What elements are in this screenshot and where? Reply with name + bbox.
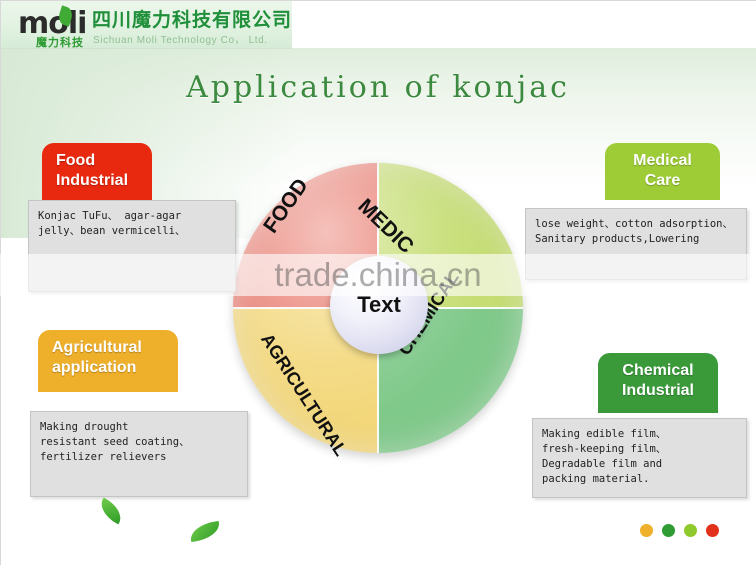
callout-panel-medical-care: lose weight、cotton adsorption、 Sanitary …	[525, 208, 747, 280]
callout-tab-chemical[interactable]: ChemicalIndustrial	[598, 353, 718, 413]
slide-canvas: moli 魔力科技 四川魔力科技有限公司 Sichuan Moli Techno…	[0, 0, 756, 565]
dot-orange	[640, 524, 653, 537]
logo-bar: moli 魔力科技 四川魔力科技有限公司 Sichuan Moli Techno…	[0, 0, 292, 49]
callout-tab-food[interactable]: FoodIndustrial	[42, 143, 152, 200]
callout-panel-agricultural: Making drought resistant seed coating、 f…	[30, 411, 248, 497]
callout-panel-chemical: Making edible film、 fresh-keeping film、 …	[532, 418, 747, 498]
decor-leaf-icon	[96, 498, 127, 525]
company-name-cn: 四川魔力科技有限公司	[92, 5, 292, 32]
page-title: Application of konjac	[0, 70, 756, 105]
decor-leaf-icon	[189, 521, 221, 542]
moli-logo: moli 魔力科技	[10, 4, 90, 44]
konjac-application-pie-chart: FOOD MEDIC AGRICULTURAL CHEMICAL Text	[233, 163, 523, 453]
dot-red	[706, 524, 719, 537]
callout-tab-medical-care[interactable]: MedicalCare	[605, 143, 720, 200]
pie-center-label: Text	[330, 256, 428, 354]
dot-lightgreen	[684, 524, 697, 537]
footer-dot-group	[640, 524, 719, 537]
dot-green	[662, 524, 675, 537]
company-name-en: Sichuan Moli Technology Co， Ltd.	[93, 31, 268, 46]
callout-tab-agricultural[interactable]: Agriculturalapplication	[38, 330, 178, 392]
callout-panel-food: Konjac TuFu、 agar-agar jelly、bean vermic…	[28, 200, 236, 292]
logo-subtitle-cn: 魔力科技	[36, 34, 84, 49]
